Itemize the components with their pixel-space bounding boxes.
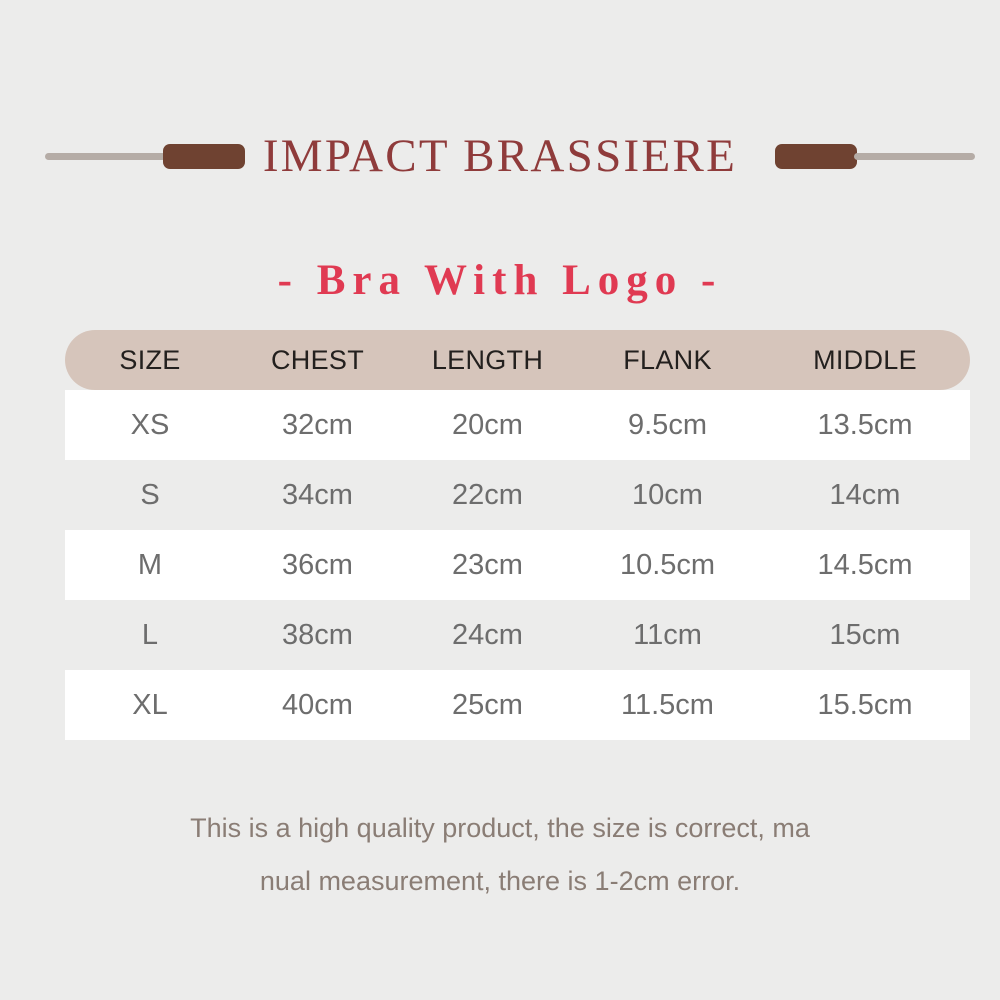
decoration-line-right-icon — [854, 153, 975, 160]
measurement-note-line-1: This is a high quality product, the size… — [0, 802, 1000, 855]
table-row: L 38cm 24cm 11cm 15cm — [65, 600, 970, 670]
cell-flank: 10cm — [575, 479, 760, 512]
cell-length: 22cm — [400, 479, 575, 512]
cell-size: S — [65, 479, 235, 512]
column-header-middle: MIDDLE — [760, 345, 970, 376]
decoration-left — [45, 124, 245, 188]
cell-length: 23cm — [400, 549, 575, 582]
size-table: SIZE CHEST LENGTH FLANK MIDDLE XS 32cm 2… — [65, 330, 970, 740]
column-header-length: LENGTH — [400, 345, 575, 376]
cell-middle: 15cm — [760, 619, 970, 652]
size-chart-page: IMPACT BRASSIERE - Bra With Logo - SIZE … — [0, 0, 1000, 1000]
page-title: IMPACT BRASSIERE — [263, 133, 737, 180]
cell-length: 25cm — [400, 689, 575, 722]
table-header-row: SIZE CHEST LENGTH FLANK MIDDLE — [65, 330, 970, 390]
cell-middle: 14cm — [760, 479, 970, 512]
cell-middle: 15.5cm — [760, 689, 970, 722]
title-band: IMPACT BRASSIERE — [0, 124, 1000, 188]
cell-chest: 38cm — [235, 619, 400, 652]
cell-chest: 36cm — [235, 549, 400, 582]
cell-flank: 11cm — [575, 619, 760, 652]
table-row: M 36cm 23cm 10.5cm 14.5cm — [65, 530, 970, 600]
table-row: XS 32cm 20cm 9.5cm 13.5cm — [65, 390, 970, 460]
measurement-note-line-2: nual measurement, there is 1-2cm error. — [0, 855, 1000, 908]
cell-middle: 14.5cm — [760, 549, 970, 582]
cell-chest: 34cm — [235, 479, 400, 512]
cell-middle: 13.5cm — [760, 409, 970, 442]
decoration-bar-right-icon — [775, 144, 857, 169]
cell-flank: 10.5cm — [575, 549, 760, 582]
column-header-size: SIZE — [65, 345, 235, 376]
cell-chest: 40cm — [235, 689, 400, 722]
cell-size: L — [65, 619, 235, 652]
cell-size: XS — [65, 409, 235, 442]
cell-flank: 9.5cm — [575, 409, 760, 442]
table-row: S 34cm 22cm 10cm 14cm — [65, 460, 970, 530]
decoration-line-left-icon — [45, 153, 166, 160]
decoration-right — [775, 124, 975, 188]
measurement-note: This is a high quality product, the size… — [0, 802, 1000, 908]
cell-flank: 11.5cm — [575, 689, 760, 722]
cell-size: XL — [65, 689, 235, 722]
cell-chest: 32cm — [235, 409, 400, 442]
decoration-bar-left-icon — [163, 144, 245, 169]
column-header-flank: FLANK — [575, 345, 760, 376]
cell-size: M — [65, 549, 235, 582]
cell-length: 20cm — [400, 409, 575, 442]
page-subtitle: - Bra With Logo - — [0, 259, 1000, 302]
table-row: XL 40cm 25cm 11.5cm 15.5cm — [65, 670, 970, 740]
cell-length: 24cm — [400, 619, 575, 652]
column-header-chest: CHEST — [235, 345, 400, 376]
